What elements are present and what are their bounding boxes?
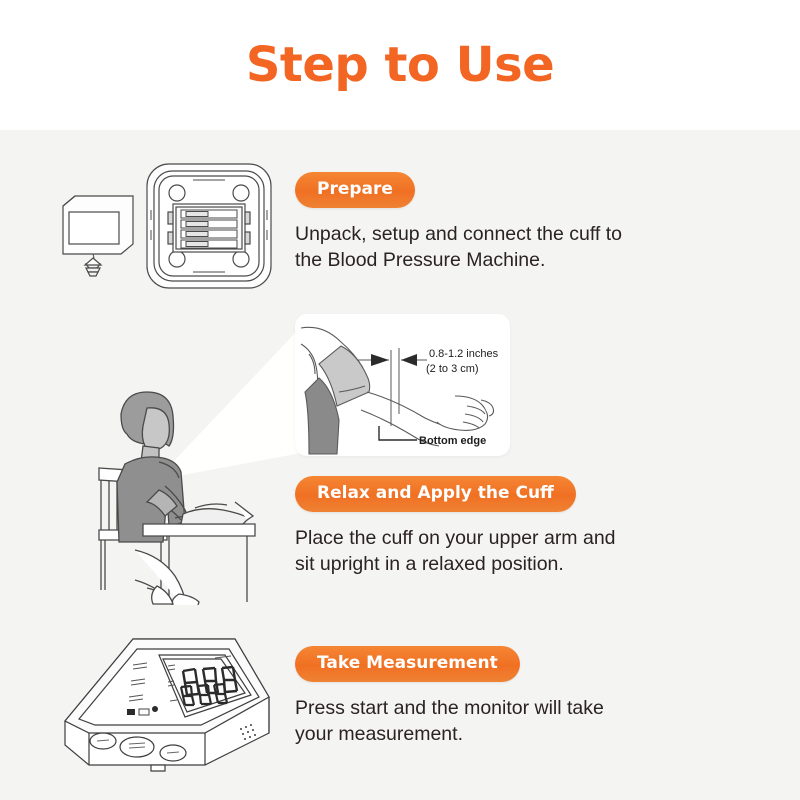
relax-illustration [95,390,310,605]
step-badge-relax[interactable]: Relax and Apply the Cuff [295,476,576,512]
step-relax: Relax and Apply the Cuff Place the cuff … [295,476,616,578]
callout-bottom-edge-label: Bottom edge [419,435,486,447]
step3-line1: Press start and the monitor will take [295,695,604,721]
infographic-page: Step to Use [0,0,800,800]
callout-cm-label: (2 to 3 cm) [426,363,479,375]
step1-line2: the Blood Pressure Machine. [295,247,622,273]
step-prepare: Prepare Unpack, setup and connect the cu… [295,172,622,274]
header-bar: Step to Use [0,0,800,130]
step-badge-prepare[interactable]: Prepare [295,172,415,208]
step-description-measure: Press start and the monitor will take yo… [295,695,604,748]
page-title: Step to Use [246,37,554,93]
cuff-placement-callout: 0.8-1.2 inches (2 to 3 cm) Bottom edge 0… [295,314,510,456]
bp-machine-and-cuff-box-icon [55,158,280,293]
measurement-illustration [55,625,285,780]
step2-line1: Place the cuff on your upper arm and [295,525,616,551]
step-badge-measure[interactable]: Take Measurement [295,646,520,682]
step-measure: Take Measurement Press start and the mon… [295,646,604,748]
callout-inches-label: 0.8-1.2 inches [429,348,499,360]
step3-line2: your measurement. [295,721,604,747]
step-description-relax: Place the cuff on your upper arm and sit… [295,525,616,578]
prepare-illustration [55,158,280,293]
blood-pressure-monitor-icon [55,625,285,780]
step2-line2: sit upright in a relaxed position. [295,551,616,577]
step1-line1: Unpack, setup and connect the cuff to [295,221,622,247]
step-description-prepare: Unpack, setup and connect the cuff to th… [295,221,622,274]
person-seated-at-desk-icon [95,390,310,605]
arm-with-cuff-placement-diagram-icon: 0.8-1.2 inches (2 to 3 cm) Bottom edge [295,314,510,456]
